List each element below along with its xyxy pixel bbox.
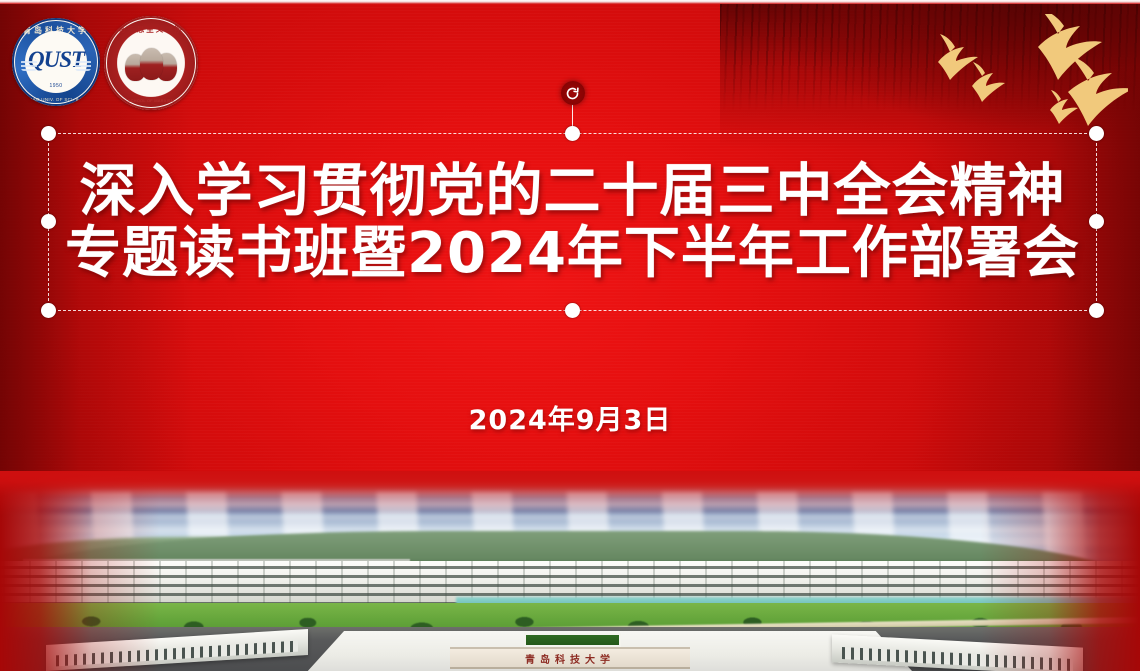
photo-planter	[524, 633, 621, 647]
marx-engels-lenin-portrait-icon	[125, 48, 177, 82]
qust-emblem-year: 1950	[12, 83, 100, 89]
marx-emblem-chinese-name: 马克思主义学院	[104, 24, 198, 35]
title-line-1: 深入学习贯彻党的二十届三中全会精神	[80, 160, 1066, 222]
title-line-2: 专题读书班暨2024年下半年工作部署会	[65, 223, 1080, 284]
event-date[interactable]: 2024年9月3日	[0, 398, 1140, 437]
photo-campus-sign: 青岛科技大学	[450, 647, 689, 669]
campus-aerial-photo: 青岛科技大学	[0, 471, 1140, 671]
title-text-block[interactable]: 深入学习贯彻党的二十届三中全会精神 专题读书班暨2024年下半年工作部署会	[48, 133, 1097, 311]
doves-svg	[898, 14, 1128, 134]
dove-icon-2	[972, 62, 1005, 102]
emblem-wave-left	[21, 59, 37, 71]
peace-doves-decoration	[898, 14, 1128, 134]
dove-icon-1	[938, 34, 978, 80]
marx-emblem-english-name: SCHOOL OF MARXISM	[104, 98, 198, 103]
qust-emblem-english-name: QINGDAO UNIV. OF SCI. & TECH.	[12, 97, 100, 102]
slide-top-edge	[0, 0, 1140, 4]
logo-group: 青岛科技大学 QUST 1950 QINGDAO UNIV. OF SCI. &…	[12, 18, 198, 110]
emblem-wave-right	[75, 59, 91, 71]
presentation-slide: 青岛科技大学 QUST 1950 QINGDAO UNIV. OF SCI. &…	[0, 0, 1140, 671]
dove-icon-5	[1068, 56, 1128, 126]
qust-university-emblem-icon[interactable]: 青岛科技大学 QUST 1950 QINGDAO UNIV. OF SCI. &…	[12, 18, 100, 106]
marxism-school-emblem-icon[interactable]: 马克思主义学院 SCHOOL OF MARXISM	[104, 16, 198, 110]
dove-icon-3	[1038, 14, 1102, 80]
